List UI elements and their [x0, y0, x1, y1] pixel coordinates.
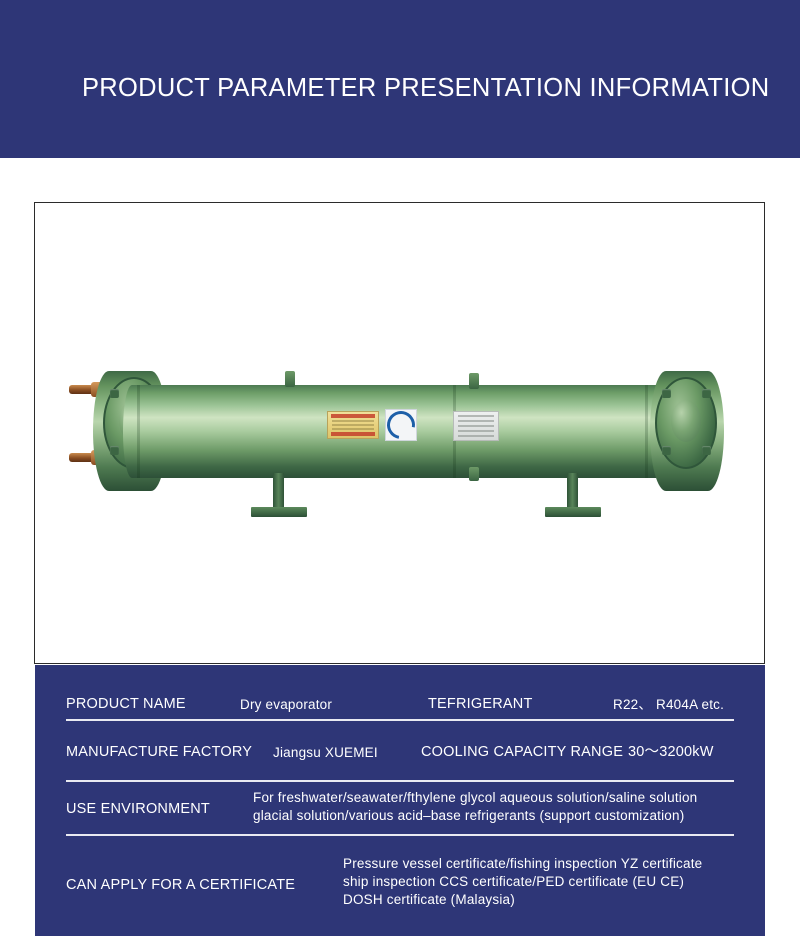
spec-label-product-name: PRODUCT NAME	[66, 695, 186, 714]
flange-bolt	[662, 389, 671, 398]
page-header: PRODUCT PARAMETER PRESENTATION INFORMATI…	[0, 0, 800, 158]
weld-seam	[645, 385, 648, 478]
flange-bolt	[702, 446, 711, 455]
certification-logo-decal	[385, 409, 417, 441]
bottom-drain-valve-icon	[469, 467, 479, 481]
spec-value-certificate: Pressure vessel certificate/fishing insp…	[343, 855, 702, 908]
warning-label-decal	[327, 411, 379, 439]
flange-bolt	[662, 446, 671, 455]
flange-bolt	[110, 389, 119, 398]
spec-label-manufacture-factory: MANUFACTURE FACTORY	[66, 743, 252, 762]
spec-table: PRODUCT NAME Dry evaporator TEFRIGERANT …	[35, 665, 765, 936]
top-vent-valve-icon	[469, 373, 479, 389]
spec-value-refrigerant: R22、 R404A etc.	[613, 696, 724, 714]
product-image	[35, 203, 764, 663]
page-title: PRODUCT PARAMETER PRESENTATION INFORMATI…	[82, 74, 769, 103]
weld-seam	[137, 385, 140, 478]
spec-value-product-name: Dry evaporator	[240, 696, 332, 714]
row-divider	[66, 834, 734, 836]
spec-value-cooling-capacity-range: 30～3200kW	[628, 743, 714, 762]
spec-label-refrigerant: TEFRIGERANT	[428, 695, 533, 714]
row-divider	[66, 780, 734, 782]
support-foot	[545, 473, 601, 519]
heat-exchanger-illustration	[55, 363, 745, 523]
row-divider	[66, 719, 734, 721]
spec-value-manufacture-factory: Jiangsu XUEMEI	[273, 744, 378, 762]
nameplate-decal	[453, 411, 499, 441]
support-foot	[251, 473, 307, 519]
right-dome-cap	[671, 400, 701, 442]
flange-bolt	[110, 446, 119, 455]
spec-value-use-environment: For freshwater/seawater/fthylene glycol …	[253, 789, 697, 825]
spec-label-certificate: CAN APPLY FOR A CERTIFICATE	[66, 876, 295, 895]
spec-label-use-environment: USE ENVIRONMENT	[66, 800, 210, 819]
flange-bolt	[702, 389, 711, 398]
product-image-frame	[34, 202, 765, 664]
top-vent-valve-icon	[285, 371, 295, 387]
spec-label-cooling-capacity-range: COOLING CAPACITY RANGE	[421, 743, 623, 762]
